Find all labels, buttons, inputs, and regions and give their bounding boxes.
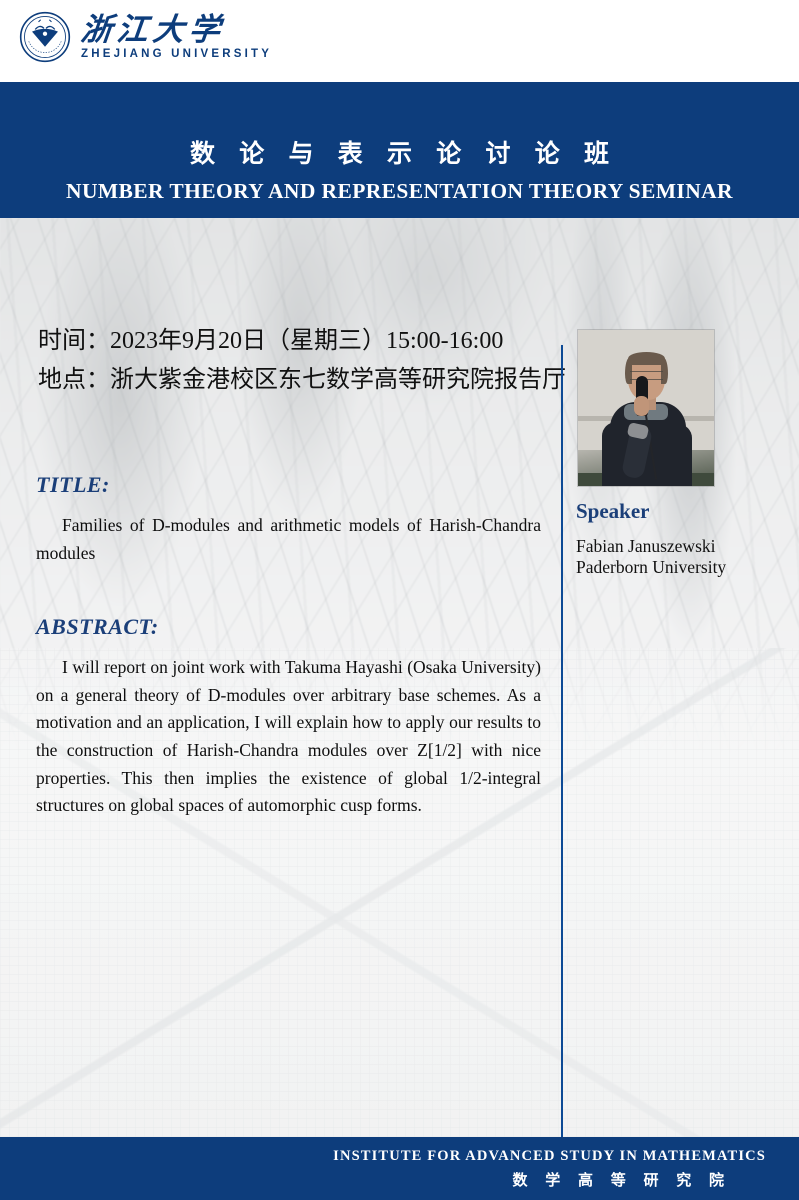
university-name-en: ZHEJIANG UNIVERSITY [81,49,272,61]
abstract-text: I will report on joint work with Takuma … [36,657,541,815]
title-section: TITLE: Families of D-modules and arithme… [36,472,541,567]
speaker-portrait-photo [578,330,714,486]
title-text-wrap: Families of D-modules and arithmetic mod… [36,512,541,567]
seminar-poster: 浙江大学 ZHEJIANG UNIVERSITY 数 论 与 表 示 论 讨 论… [0,0,799,1200]
event-location: 地点：浙大紫金港校区东七数学高等研究院报告厅 [38,361,543,400]
event-meta: 时间：2023年9月20日（星期三）15:00-16:00 地点：浙大紫金港校区… [38,322,543,400]
abstract-label: ABSTRACT: [36,614,541,640]
abstract-text-wrap: I will report on joint work with Takuma … [36,654,541,820]
seminar-title-en: NUMBER THEORY AND REPRESENTATION THEORY … [66,179,733,204]
university-wordmark: 浙江大学 ZHEJIANG UNIVERSITY [81,14,272,61]
speaker-column: Speaker Fabian Januszewski Paderborn Uni… [563,218,799,1137]
university-logo: 浙江大学 ZHEJIANG UNIVERSITY [18,10,272,64]
seminar-header-banner: 数 论 与 表 示 论 讨 论 班 NUMBER THEORY AND REPR… [0,82,799,218]
photo-hand [634,396,649,416]
photo-hair-top [628,352,665,365]
institute-name-en: INSTITUTE FOR ADVANCED STUDY IN MATHEMAT… [333,1148,766,1165]
abstract-section: ABSTRACT: I will report on joint work wi… [36,614,541,820]
event-time: 时间：2023年9月20日（星期三）15:00-16:00 [38,322,543,361]
speaker-affiliation: Paderborn University [576,555,726,580]
left-content-column: 时间：2023年9月20日（星期三）15:00-16:00 地点：浙大紫金港校区… [0,218,561,1137]
logo-strip: 浙江大学 ZHEJIANG UNIVERSITY [0,0,799,82]
seminar-title-cn: 数 论 与 表 示 论 讨 论 班 [181,134,618,170]
title-text: Families of D-modules and arithmetic mod… [36,515,541,563]
institute-name-cn: 数 学 高 等 研 究 院 [505,1169,731,1190]
university-name-cn: 浙江大学 [79,14,273,45]
zhejiang-university-seal-icon [18,10,72,64]
title-label: TITLE: [36,472,541,498]
speaker-label: Speaker [576,499,650,524]
institute-footer: INSTITUTE FOR ADVANCED STUDY IN MATHEMAT… [0,1137,799,1200]
